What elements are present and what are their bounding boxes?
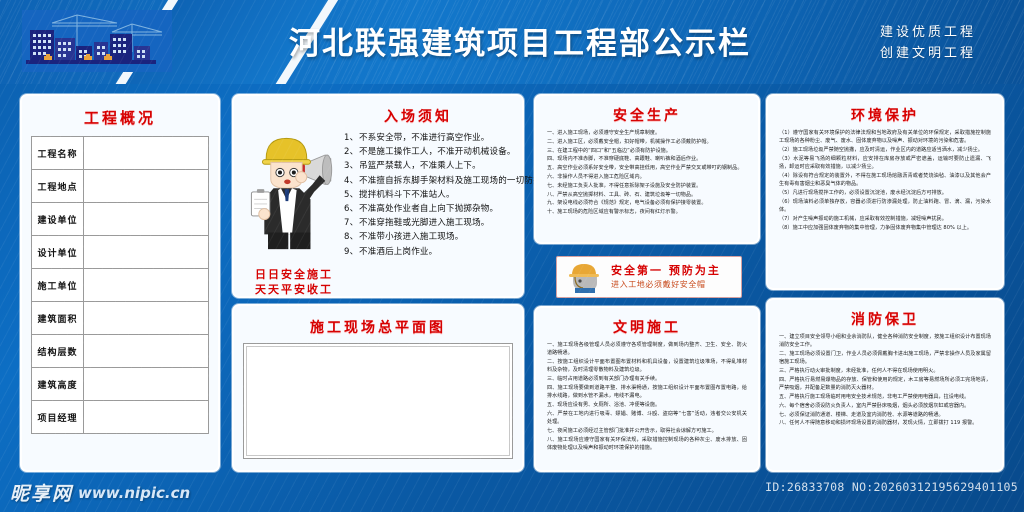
list-item-text: 吊篮严禁载人，不准乘人上下。: [359, 161, 481, 171]
overview-row-label: 建筑面积: [32, 302, 84, 335]
list-item: 九、架设电线必须符合《规范》规定，电气设备必须有保护接零装置。: [547, 199, 747, 207]
list-item: 七、必须保证消防通道、楼梯、走道及室内消防栓、水源等道路的畅通。: [779, 411, 991, 419]
list-item-number: 9、: [344, 245, 359, 259]
table-row: 工程名称: [32, 137, 209, 170]
list-item-number: 5、: [344, 188, 359, 202]
civilized-title: 文明施工: [544, 317, 750, 337]
list-item: 三、临时占用道路必须到有关部门办理有关手续。: [547, 375, 747, 383]
list-item: 二、按施工组织设计平面布置图布置材料和机具设备，设置建筑垃圾堆场，不得乱堆材料及…: [547, 358, 747, 375]
table-row: 工程地点: [32, 170, 209, 203]
list-item-text: 不准高处作业者自上向下抛掷杂物。: [359, 204, 498, 214]
site-plan-drawing-area[interactable]: [243, 343, 513, 459]
list-item: 六、每个宿舍必须设防火负责人，室内严禁卧床吸烟，烟头必须放烟灰缸或容器内。: [779, 402, 991, 410]
list-item: 五、现场应设有男、女厕所、浴池、冲便等设施。: [547, 401, 747, 409]
list-item: 六、非操作人员不得进入施工危险区域内。: [547, 173, 747, 181]
list-item: 八、严禁从高空抛掷材料、工具、砖、石、建筑垃圾等一切物品。: [547, 191, 747, 199]
watermark-site-name: 昵享网: [10, 479, 73, 506]
environment-rules-list: （1）遵守国家有关环境保护的法律法规和当地政府及有关单位的环保规定，采取措施控制…: [776, 129, 994, 232]
list-item: 一、建立项目安全领导小组和业余消防队，健全各种消防安全制度，按施工组织设计布置现…: [779, 333, 991, 350]
list-item-number: 3、: [344, 159, 359, 173]
overview-row-value[interactable]: [84, 269, 209, 302]
watermark: 昵享网 www.nipic.cn: [10, 479, 190, 506]
table-row: 施工单位: [32, 269, 209, 302]
list-item-text: 不准酒后上岗作业。: [359, 247, 437, 257]
safety-banner-line-1: 安全第一 预防为主: [611, 263, 721, 278]
list-item: 八、任何人不得随意移动和损坏现场设置的消防器材，发现火情，立即拨打 119 报警…: [779, 419, 991, 427]
list-item: （6）现场油料必须单独存放，容器必须进行防渗漏处理，防止油料跑、冒、滴、漏，污染…: [779, 198, 991, 215]
overview-row-label: 工程地点: [32, 170, 84, 203]
safety-helmet-banner: 安全第一 预防为主 进入工地必须戴好安全帽: [556, 256, 742, 298]
watermark-id-text: ID:26833708 NO:20260312195629401105: [765, 480, 1018, 494]
mascot-slogan: 日日安全施工 天天平安收工: [244, 267, 344, 297]
overview-table: 工程名称工程地点建设单位设计单位施工单位建筑面积结构层数建筑高度项目经理: [31, 136, 209, 434]
list-item: 二、施工现场必须设置门卫，作业人员必须佩戴胸卡进出施工现场，严禁非操作人员及家属…: [779, 350, 991, 367]
list-item: 9、不准酒后上岗作业。: [344, 245, 568, 259]
list-item: 五、高空作业必须系好安全带，安全带高挂低用，高空作业严禁交叉或带叮的钢制品。: [547, 164, 747, 172]
list-item: 七、未经施工负责人批准，不得任意拆除架子设施及安全防护装置。: [547, 182, 747, 190]
overview-row-label: 结构层数: [32, 335, 84, 368]
table-row: 建设单位: [32, 203, 209, 236]
list-item-text: 不是施工操作工人，不准开动机械设备。: [359, 147, 516, 157]
city-skyline-crane-icon: [22, 10, 172, 72]
list-item: 一、施工现场各级管理人员必须遵守各项管理制度，做到场内整齐、卫生、安全、防火道路…: [547, 341, 747, 358]
table-row: 结构层数: [32, 335, 209, 368]
overview-row-label: 建设单位: [32, 203, 84, 236]
list-item: 七、夜间施工必须经过主管部门批准并公开告示，取得社会谅解方可施工。: [547, 427, 747, 435]
overview-row-label: 施工单位: [32, 269, 84, 302]
overview-row-label: 工程名称: [32, 137, 84, 170]
list-item: 四、现场内不准赤脚，不准穿硬底鞋、高跟鞋、喇叭裤和酒后作业。: [547, 155, 747, 163]
list-item: 八、施工现场应遵守国家有关环保法规，采取措施控制现场的各种灰尘、废水排放、固体废…: [547, 436, 747, 453]
slogan-line-2: 创建文明工程: [880, 43, 976, 64]
list-item-number: 4、: [344, 174, 359, 188]
slogan-line-1: 建设优质工程: [880, 22, 976, 43]
list-item: 四、严格执行易燃易爆物品的存放、保管和使用的规定，木工房等易燃场所必须工完场地清…: [779, 376, 991, 393]
overview-row-label: 设计单位: [32, 236, 84, 269]
list-item-text: 不系安全带，不准进行高空作业。: [359, 133, 490, 143]
list-item: （5）凡进行现场搅拌工作的，必须设置沉淀池，废水经沉淀后方可排放。: [779, 189, 991, 197]
overview-row-value[interactable]: [84, 302, 209, 335]
mascot-slogan-line-2: 天天平安收工: [244, 282, 344, 297]
header-slogans: 建设优质工程 创建文明工程: [880, 22, 976, 64]
environment-title: 环境保护: [776, 105, 994, 125]
table-row: 建筑面积: [32, 302, 209, 335]
overview-row-value[interactable]: [84, 170, 209, 203]
list-item-number: 2、: [344, 145, 359, 159]
page-title: 河北联强建筑项目工程部公示栏: [270, 22, 770, 66]
environment-protection-panel: 环境保护 （1）遵守国家有关环境保护的法律法规和当地政府及有关单位的环保规定，采…: [766, 94, 1004, 290]
notice-title: 入场须知: [242, 106, 514, 126]
list-item-text: 不准穿拖鞋或光脚进入施工现场。: [359, 218, 490, 228]
list-item: （3）水泥等易飞扬的细颗粒材料，应安排在库房存放或严密遮盖，运输时要防止遗漏、飞…: [779, 155, 991, 172]
worker-with-megaphone-icon: 日日安全施工 天天平安收工: [242, 131, 342, 299]
table-row: 建筑高度: [32, 368, 209, 401]
overview-title: 工程概况: [30, 107, 210, 128]
list-item: 三、在建工程中的“四口”和“五临边”必须有防护设施。: [547, 147, 747, 155]
list-item: 六、严禁在工地内进行吸毒、嫖娼、赌博、斗殴、盗窃等“七害”活动，违者交公安机关处…: [547, 410, 747, 427]
safety-production-panel: 安全生产 一、进入施工现场，必须遵守安全生产规章制度。二、进入施工区，必须戴安全…: [534, 94, 760, 244]
overview-row-value[interactable]: [84, 368, 209, 401]
list-item: 一、进入施工现场，必须遵守安全生产规章制度。: [547, 129, 747, 137]
list-item: 五、严格执行施工现场临时用电安全技术规范，非电工严禁使用电器具，拉设电线。: [779, 393, 991, 401]
list-item: （8）施工中应加强固体废弃物的集中管理，力争固体废弃物集中管理达 80% 以上。: [779, 224, 991, 232]
list-item-number: 6、: [344, 202, 359, 216]
overview-row-value[interactable]: [84, 203, 209, 236]
overview-row-value[interactable]: [84, 236, 209, 269]
list-item: （7）对产生噪声振动的施工机械，应采取有效控制措施，减轻噪声扰民。: [779, 215, 991, 223]
list-item: 四、施工现场要做到道路平整、排水渠畅通，按施工组织设计平面布置图布置电路，给排水…: [547, 384, 747, 401]
site-plan-title: 施工现场总平面图: [242, 317, 514, 337]
list-item: 三、严格执行动火审批制度，未经批准，任何人不得在现场使用明火。: [779, 367, 991, 375]
mascot-slogan-line-1: 日日安全施工: [244, 267, 344, 282]
public-notice-board: 河北联强建筑项目工程部公示栏 建设优质工程 创建文明工程 工程概况 工程名称工程…: [0, 0, 1024, 512]
board-header: 河北联强建筑项目工程部公示栏 建设优质工程 创建文明工程: [0, 0, 1024, 84]
list-item-text: 不准带小孩进入施工现场。: [359, 232, 463, 242]
project-overview-panel: 工程概况 工程名称工程地点建设单位设计单位施工单位建筑面积结构层数建筑高度项目经…: [20, 94, 220, 472]
table-row: 项目经理: [32, 401, 209, 434]
fire-security-panel: 消防保卫 一、建立项目安全领导小组和业余消防队，健全各种消防安全制度，按施工组织…: [766, 298, 1004, 472]
entry-notice-panel: 入场须知: [232, 94, 524, 298]
fire-title: 消防保卫: [776, 309, 994, 329]
list-item-number: 1、: [344, 131, 359, 145]
safety-banner-line-2: 进入工地必须戴好安全帽: [611, 278, 721, 291]
site-plan-panel: 施工现场总平面图: [232, 304, 524, 472]
safety-rules-list: 一、进入施工现场，必须遵守安全生产规章制度。二、进入施工区，必须戴安全帽，扣好帽…: [544, 129, 750, 216]
overview-row-value[interactable]: [84, 401, 209, 434]
fire-rules-list: 一、建立项目安全领导小组和业余消防队，健全各种消防安全制度，按施工组织设计布置现…: [776, 333, 994, 428]
list-item: 十、施工现场的危险区域应有警示标志，夜间有红灯示警。: [547, 208, 747, 216]
overview-row-value[interactable]: [84, 335, 209, 368]
watermark-url: www.nipic.cn: [78, 484, 190, 502]
list-item: （1）遵守国家有关环境保护的法律法规和当地政府及有关单位的环保规定，采取措施控制…: [779, 129, 991, 146]
list-item: （2）施工现场垃圾严禁随空抛撒，应及时清运，作业区内的道路应适当洒水，减少扬尘。: [779, 146, 991, 154]
list-item-number: 8、: [344, 230, 359, 244]
list-item: 二、进入施工区，必须戴安全帽，扣好帽带，机械操作工必须戴防护帽。: [547, 138, 747, 146]
list-item-number: 7、: [344, 216, 359, 230]
civilized-rules-list: 一、施工现场各级管理人员必须遵守各项管理制度，做到场内整齐、卫生、安全、防火道路…: [544, 341, 750, 452]
table-row: 设计单位: [32, 236, 209, 269]
civilized-construction-panel: 文明施工 一、施工现场各级管理人员必须遵守各项管理制度，做到场内整齐、卫生、安全…: [534, 306, 760, 472]
list-item: （4）除设有符合规定的装置外，不得在施工现场熔融沥青或者焚烧油毡、油漆以及其他会…: [779, 172, 991, 189]
overview-row-label: 项目经理: [32, 401, 84, 434]
overview-row-value[interactable]: [84, 137, 209, 170]
safety-title: 安全生产: [544, 105, 750, 125]
list-item-text: 搅拌机料斗下不准站人。: [359, 190, 455, 200]
overview-row-label: 建筑高度: [32, 368, 84, 401]
safety-helmet-worker-icon: [563, 261, 605, 293]
